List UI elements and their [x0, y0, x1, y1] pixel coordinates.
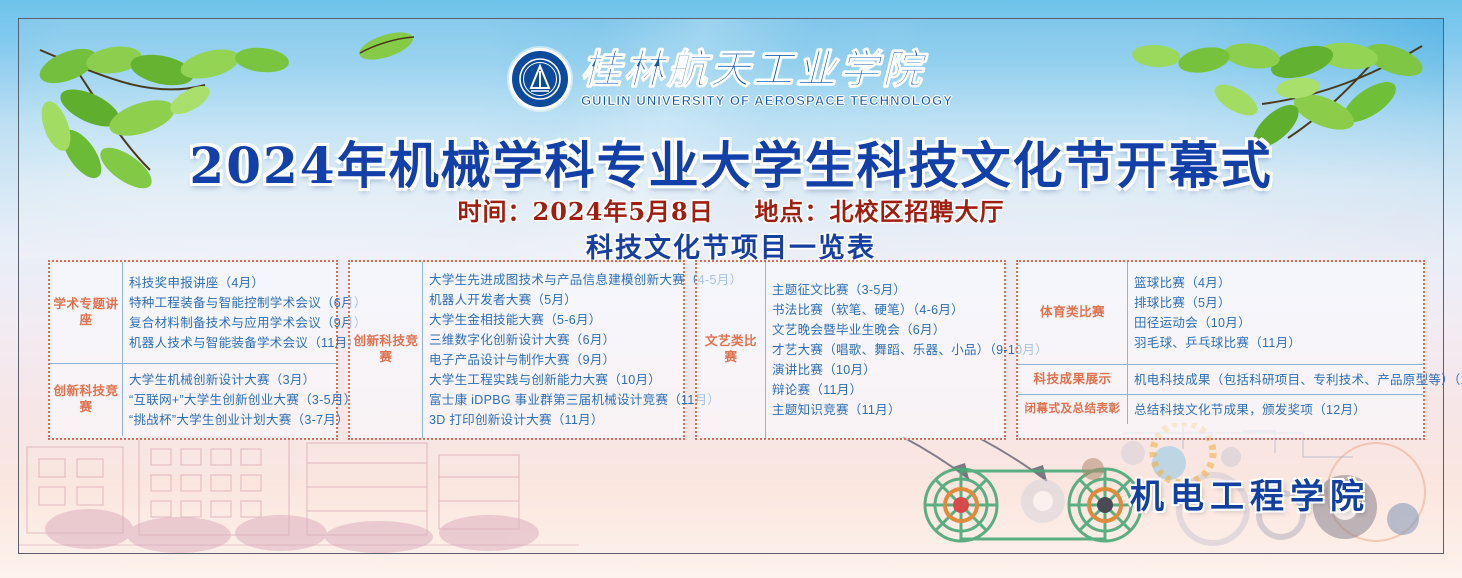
group-items: 机电科技成果（包括科研项目、专利技术、产品原型等）（11月） — [1128, 365, 1462, 394]
program-column-2: 创新科技竞赛 大学生先进成图技术与产品信息建模创新大赛（4-5月） 机器人开发者… — [348, 260, 685, 440]
event-meta: 时间：2024年5月8日 地点：北校区招聘大厅 — [0, 192, 1462, 227]
list-item: 大学生机械创新设计大赛（3月） — [129, 370, 357, 390]
event-place: 地点：北校区招聘大厅 — [754, 197, 1004, 226]
group-label: 创新科技竞赛 — [350, 262, 423, 438]
list-item: 主题知识竞赛（11月） — [772, 400, 1048, 420]
group-items: 科技奖申报讲座（4月） 特种工程装备与智能控制学术会议（6月） 复合材料制备技术… — [123, 262, 367, 363]
table-row: 创新科技竞赛 大学生先进成图技术与产品信息建模创新大赛（4-5月） 机器人开发者… — [350, 262, 683, 438]
list-item: “挑战杯”大学生创业计划大赛（3-7月） — [129, 410, 357, 430]
table-row: 科技成果展示 机电科技成果（包括科研项目、专利技术、产品原型等）（11月） — [1018, 365, 1423, 395]
group-items: 篮球比赛（4月） 排球比赛（5月） 田径运动会（10月） 羽毛球、乒乓球比赛（1… — [1128, 262, 1423, 364]
list-item: 书法比赛（软笔、硬笔）（4-6月） — [772, 300, 1048, 320]
group-label: 体育类比赛 — [1018, 262, 1128, 364]
list-item: 才艺大赛（唱歌、舞蹈、乐器、小品）（9-10月） — [772, 340, 1048, 360]
group-items: 主题征文比赛（3-5月） 书法比赛（软笔、硬笔）（4-6月） 文艺晚会暨毕业生晚… — [766, 262, 1048, 438]
list-item: 田径运动会（10月） — [1134, 313, 1423, 333]
list-item: 机电科技成果（包括科研项目、专利技术、产品原型等）（11月） — [1134, 370, 1462, 390]
list-item: 篮球比赛（4月） — [1134, 273, 1423, 293]
department-name: 机电工程学院 — [1130, 469, 1370, 518]
program-column-1: 学术专题讲座 科技奖申报讲座（4月） 特种工程装备与智能控制学术会议（6月） 复… — [48, 260, 338, 440]
list-item: 羽毛球、乒乓球比赛（11月） — [1134, 333, 1423, 353]
logo-chinese-name: 桂林航天工业学院 — [581, 50, 953, 90]
list-item: 主题征文比赛（3-5月） — [772, 280, 1048, 300]
program-column-3: 文艺类比赛 主题征文比赛（3-5月） 书法比赛（软笔、硬笔）（4-6月） 文艺晚… — [695, 260, 1006, 440]
list-item: 文艺晚会暨毕业生晚会（6月） — [772, 320, 1048, 340]
table-row: 闭幕式及总结表彰 总结科技文化节成果，颁发奖项（12月） — [1018, 395, 1423, 424]
main-title: 2024年机械学科专业大学生科技文化节开幕式 — [0, 126, 1462, 198]
group-label: 创新科技竞赛 — [50, 364, 123, 436]
list-item: 特种工程装备与智能控制学术会议（6月） — [129, 293, 367, 313]
event-time: 时间：2024年5月8日 — [458, 197, 714, 226]
program-column-4: 体育类比赛 篮球比赛（4月） 排球比赛（5月） 田径运动会（10月） 羽毛球、乒… — [1016, 260, 1425, 440]
table-row: 体育类比赛 篮球比赛（4月） 排球比赛（5月） 田径运动会（10月） 羽毛球、乒… — [1018, 262, 1423, 365]
list-item: 排球比赛（5月） — [1134, 293, 1423, 313]
group-label: 文艺类比赛 — [697, 262, 766, 438]
program-tables: 学术专题讲座 科技奖申报讲座（4月） 特种工程装备与智能控制学术会议（6月） 复… — [48, 260, 1425, 440]
list-item: “互联网+”大学生创新创业大赛（3-5月） — [129, 390, 357, 410]
logo-english-name: GUILIN UNIVERSITY OF AEROSPACE TECHNOLOG… — [581, 93, 953, 108]
group-items: 大学生机械创新设计大赛（3月） “互联网+”大学生创新创业大赛（3-5月） “挑… — [123, 364, 357, 436]
list-item: 演讲比赛（10月） — [772, 360, 1048, 380]
group-label: 学术专题讲座 — [50, 262, 123, 363]
university-logo: 桂林航天工业学院 GUILIN UNIVERSITY OF AEROSPACE … — [0, 40, 1462, 118]
list-item: 辩论赛（11月） — [772, 380, 1048, 400]
poster-banner: 桂林航天工业学院 GUILIN UNIVERSITY OF AEROSPACE … — [0, 0, 1462, 578]
university-crest-icon — [509, 48, 571, 110]
group-label: 闭幕式及总结表彰 — [1018, 395, 1128, 424]
table-row: 创新科技竞赛 大学生机械创新设计大赛（3月） “互联网+”大学生创新创业大赛（3… — [50, 364, 336, 436]
table-row: 学术专题讲座 科技奖申报讲座（4月） 特种工程装备与智能控制学术会议（6月） 复… — [50, 262, 336, 364]
table-row: 文艺类比赛 主题征文比赛（3-5月） 书法比赛（软笔、硬笔）（4-6月） 文艺晚… — [697, 262, 1004, 438]
group-items: 总结科技文化节成果，颁发奖项（12月） — [1128, 395, 1423, 424]
list-item: 科技奖申报讲座（4月） — [129, 273, 367, 293]
list-item: 复合材料制备技术与应用学术会议（9月） — [129, 313, 367, 333]
campus-illustration — [19, 433, 579, 553]
list-item: 总结科技文化节成果，颁发奖项（12月） — [1134, 400, 1423, 420]
list-item: 机器人技术与智能装备学术会议（11月） — [129, 333, 367, 353]
group-label: 科技成果展示 — [1018, 365, 1128, 394]
